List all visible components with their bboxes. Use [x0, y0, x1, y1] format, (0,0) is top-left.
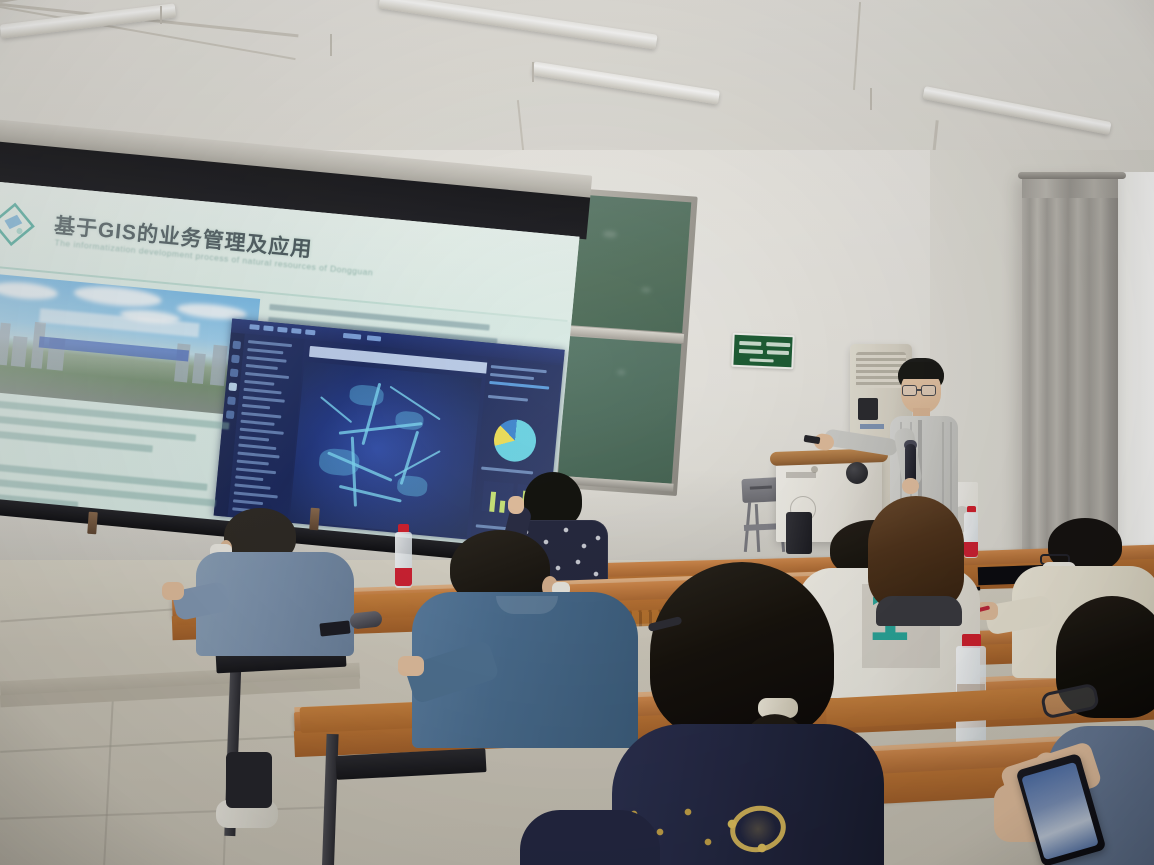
- ceiling-light-fixture: [532, 61, 720, 104]
- light-hanger: [330, 34, 332, 56]
- hand: [162, 582, 184, 600]
- presentation-slide: 基于GIS的业务管理及应用 The informatization develo…: [0, 180, 579, 553]
- curtain-pleats: [1022, 176, 1118, 198]
- student-edge-left: [520, 800, 660, 865]
- student-blue-polo-left: [196, 508, 356, 658]
- trouser-leg: [226, 752, 272, 808]
- glasses-lens-right: [921, 385, 936, 396]
- screen-surface: 基于GIS的业务管理及应用 The informatization develo…: [0, 180, 579, 553]
- hand: [508, 496, 524, 514]
- chair-slot: [750, 486, 772, 490]
- lectern-panel: [786, 472, 816, 478]
- screen-wall-bracket: [87, 512, 98, 535]
- slide-city-photo: [0, 273, 260, 417]
- glasses-bridge: [917, 389, 922, 391]
- curtain-rod: [1018, 172, 1126, 179]
- hand: [398, 656, 424, 676]
- student-blue-shirt-center: [412, 530, 642, 750]
- light-hanger: [532, 62, 534, 82]
- shoulder: [520, 810, 660, 865]
- water-bottle: [392, 524, 414, 588]
- hair: [650, 562, 834, 738]
- ceiling-light-fixture: [378, 0, 657, 50]
- classroom-photo: 基于GIS的业务管理及应用 The informatization develo…: [0, 0, 1154, 865]
- ceiling-light-fixture: [923, 86, 1112, 135]
- light-hanger: [870, 88, 872, 110]
- glasses-lens-left: [902, 385, 917, 396]
- water-bottle: [962, 506, 980, 558]
- ac-control-panel[interactable]: [858, 398, 878, 420]
- teal-diamond-logo-icon: [0, 199, 38, 249]
- ceiling-wire: [853, 2, 861, 90]
- lectern-camera-knob[interactable]: [846, 462, 868, 484]
- gis-pie-chart: [492, 418, 538, 464]
- shirt-collar: [496, 596, 558, 614]
- presenter-hair-front: [898, 362, 944, 379]
- light-hanger: [160, 6, 162, 24]
- safety-notice-sign: [731, 333, 794, 370]
- presenter-hand-right: [902, 478, 919, 494]
